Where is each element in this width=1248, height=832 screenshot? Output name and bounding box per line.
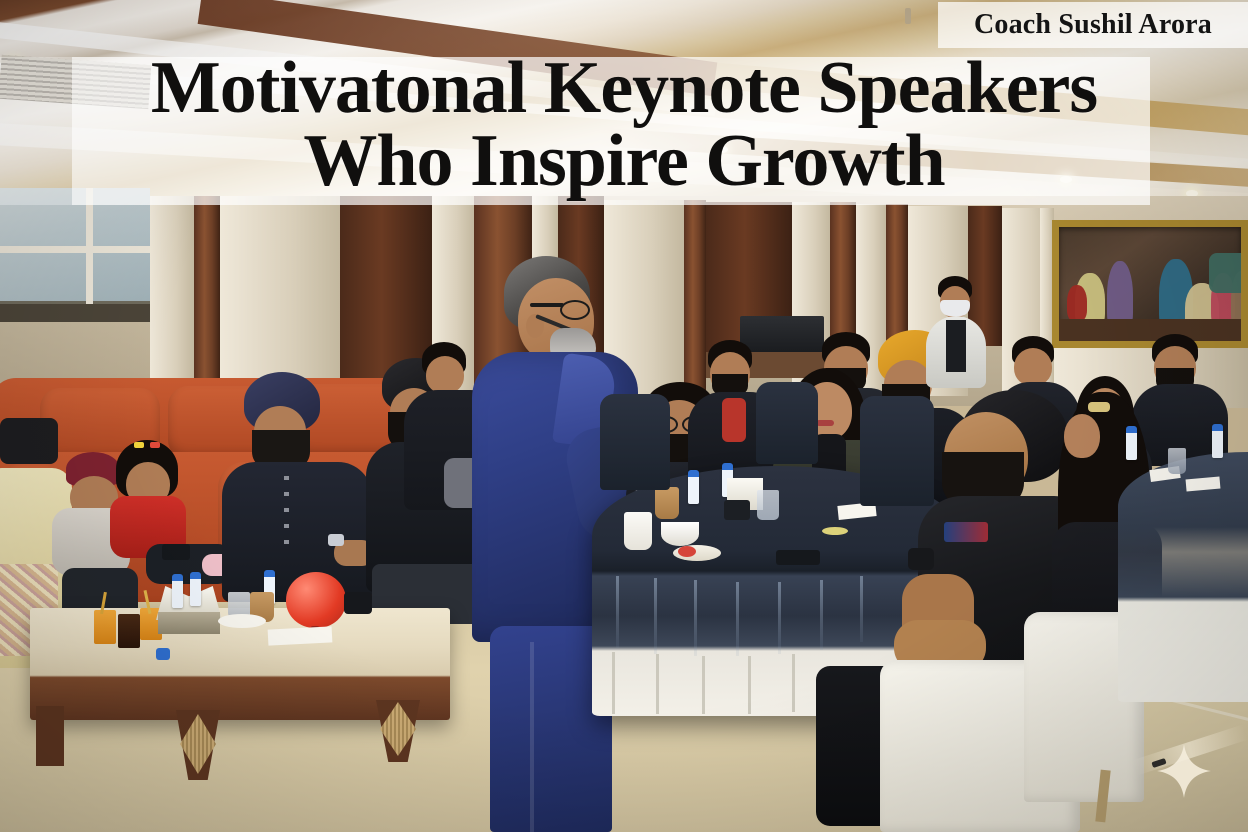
window-frame <box>0 246 150 253</box>
water-bottle <box>1212 424 1223 458</box>
wall-shadow-left <box>0 304 160 322</box>
coach-name-label: Coach Sushil Arora <box>974 9 1212 41</box>
hair-accessory <box>1088 402 1110 412</box>
food-item <box>678 546 696 557</box>
head <box>1064 414 1100 458</box>
table-skirt-pleat <box>702 656 705 714</box>
window-mullion <box>86 188 93 308</box>
head <box>1014 348 1052 386</box>
black-vest <box>946 320 966 372</box>
face-mask <box>940 300 970 316</box>
conference-chair <box>860 396 934 506</box>
paper-slip <box>268 626 333 645</box>
banner-canvas: Motivatonal Keynote Speakers Who Inspire… <box>0 0 1248 832</box>
glass-tumbler <box>757 490 779 520</box>
coffee-table-leg <box>36 706 64 766</box>
tablecloth-pleat <box>694 580 697 656</box>
tablecloth-pleat <box>860 576 863 642</box>
tissue-holder-base <box>158 612 220 634</box>
head <box>426 356 464 394</box>
table-skirt-pleat <box>748 656 751 714</box>
table-skirt-pleat <box>792 654 795 712</box>
water-bottle <box>172 574 183 608</box>
tablecloth-pleat <box>778 582 781 654</box>
table-skirt-pleat <box>612 652 615 714</box>
hair-clip <box>134 442 144 448</box>
smartphone <box>162 544 190 560</box>
banana <box>822 527 848 535</box>
tissue-box-lid <box>724 500 750 520</box>
water-bottle <box>1126 426 1137 460</box>
tshirt-chest-logo <box>944 522 988 542</box>
table-skirt-pleat <box>656 654 659 714</box>
black-object <box>344 592 372 614</box>
audience-member-navy-turban <box>230 372 380 602</box>
water-bottle <box>190 572 201 606</box>
wristwatch <box>328 534 344 546</box>
kraft-coffee-cup <box>655 487 679 519</box>
hair-clip <box>150 442 160 448</box>
lips <box>816 420 834 426</box>
red-shirt <box>722 398 746 442</box>
jacket-buttons <box>284 476 289 556</box>
conference-chair <box>756 382 818 464</box>
round-banquet-table-right <box>1118 452 1248 702</box>
painting-figure <box>1209 253 1248 293</box>
cola-glass <box>118 614 140 648</box>
page-title: Motivatonal Keynote Speakers Who Inspire… <box>0 52 1248 197</box>
glass-tumbler <box>1168 448 1186 474</box>
smartphone <box>776 550 820 565</box>
tablecloth-pleat <box>736 582 739 656</box>
painting-figure <box>1067 285 1087 321</box>
eyeglasses <box>560 300 590 320</box>
staff-member <box>926 276 986 386</box>
tablecloth-pleat <box>616 576 619 648</box>
conference-chair <box>600 394 670 490</box>
water-bottle <box>688 470 699 504</box>
eyeglasses-temple <box>530 303 564 307</box>
ceiling-chandelier-stem <box>905 8 911 24</box>
white-bowl <box>661 522 699 546</box>
red-balloon <box>286 572 346 628</box>
coach-name-badge: Coach Sushil Arora <box>938 2 1248 48</box>
tablecloth-pleat <box>820 580 823 650</box>
juice-glass <box>94 610 116 644</box>
saucer-plate <box>218 614 266 628</box>
paper-cup <box>624 512 652 550</box>
bottle-cap <box>156 648 170 660</box>
trouser-crease <box>530 642 534 832</box>
tablecloth-pleat <box>654 578 657 654</box>
audience-child-2 <box>106 440 236 608</box>
framed-classical-painting <box>1052 220 1248 348</box>
wristwatch <box>908 548 934 570</box>
